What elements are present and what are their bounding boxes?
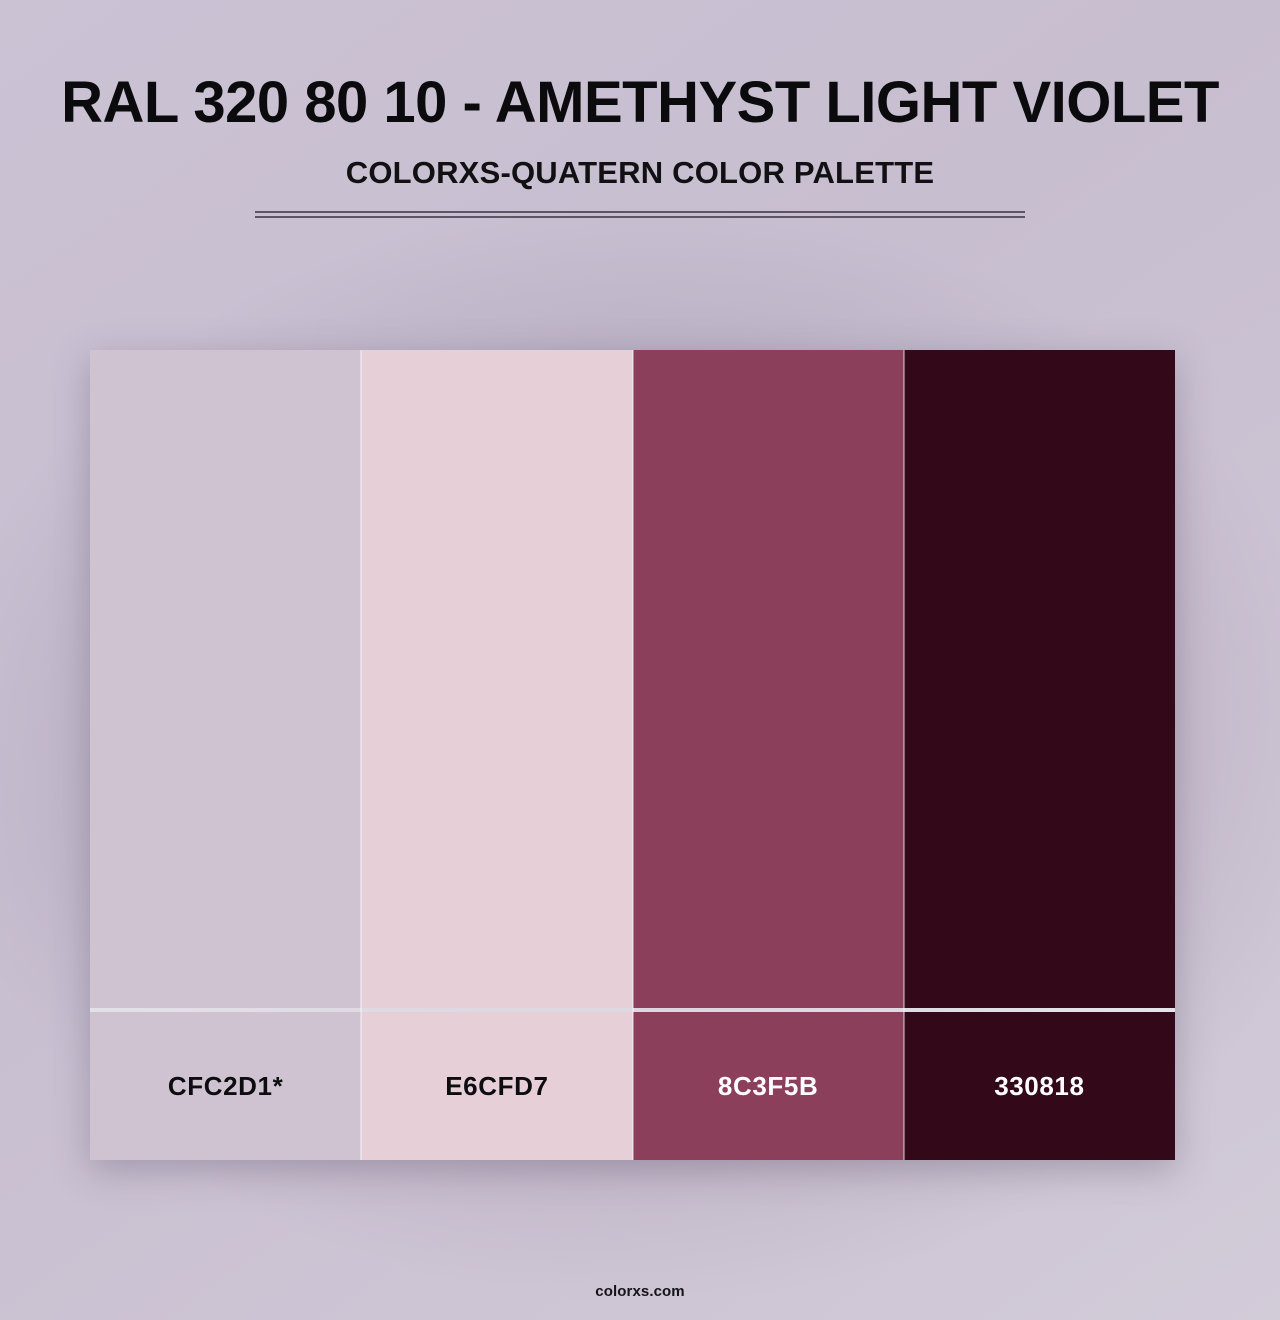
swatch-label-strip-3[interactable]: 8C3F5B	[633, 1012, 904, 1160]
swatch-label-strip-2[interactable]: E6CFD7	[361, 1012, 632, 1160]
title-divider-rule	[255, 211, 1025, 218]
swatch-color-block-4[interactable]	[904, 350, 1175, 1008]
page-header: RAL 320 80 10 - AMETHYST LIGHT VIOLET CO…	[0, 0, 1280, 218]
swatch-column-4[interactable]: 330818	[904, 350, 1175, 1160]
color-palette-panel: CFC2D1* E6CFD7 8C3F5B 330818	[90, 350, 1175, 1160]
swatch-hex-label-1: CFC2D1*	[168, 1071, 283, 1102]
swatch-hex-label-4: 330818	[994, 1071, 1084, 1102]
swatch-color-block-2[interactable]	[361, 350, 632, 1008]
swatch-column-3[interactable]: 8C3F5B	[633, 350, 904, 1160]
swatch-label-strip-4[interactable]: 330818	[904, 1012, 1175, 1160]
page-subtitle: COLORXS-QUATERN COLOR PALETTE	[0, 155, 1280, 191]
swatch-color-block-1[interactable]	[90, 350, 361, 1008]
swatch-hex-label-3: 8C3F5B	[718, 1071, 818, 1102]
palette-page: RAL 320 80 10 - AMETHYST LIGHT VIOLET CO…	[0, 0, 1280, 1320]
swatch-column-2[interactable]: E6CFD7	[361, 350, 632, 1160]
page-title: RAL 320 80 10 - AMETHYST LIGHT VIOLET	[0, 72, 1280, 134]
swatch-column-1[interactable]: CFC2D1*	[90, 350, 361, 1160]
swatch-label-strip-1[interactable]: CFC2D1*	[90, 1012, 361, 1160]
swatch-hex-label-2: E6CFD7	[445, 1071, 548, 1102]
page-footer: colorxs.com	[0, 1283, 1280, 1301]
footer-site-link[interactable]: colorxs.com	[595, 1283, 684, 1300]
swatch-color-block-3[interactable]	[633, 350, 904, 1008]
